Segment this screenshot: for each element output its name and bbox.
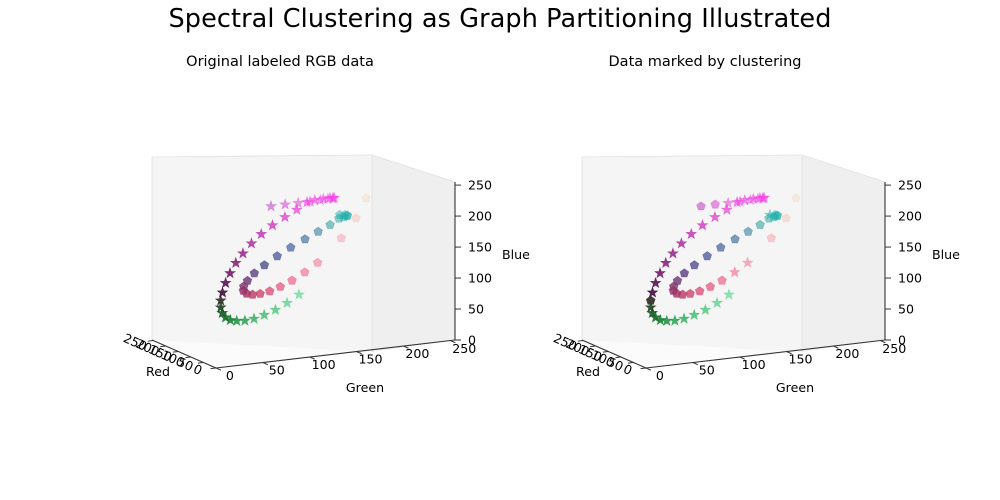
y-tick-label: 50 xyxy=(699,363,715,378)
x-axis-label: Red xyxy=(576,364,600,379)
y-tick-label: 0 xyxy=(656,368,664,383)
z-tick-label: 200 xyxy=(898,209,922,224)
z-tick-label: 150 xyxy=(898,240,922,255)
y-tick-label: 50 xyxy=(269,363,285,378)
y-tick-label: 200 xyxy=(405,346,429,361)
y-tick-label: 100 xyxy=(312,357,336,372)
subplot-clustered[interactable]: 050100150200250Red050100150200250Green05… xyxy=(430,0,930,500)
z-tick-label: 100 xyxy=(898,271,922,286)
y-tick-label: 100 xyxy=(742,357,766,372)
y-tick-label: 150 xyxy=(788,352,812,367)
y-tick-label: 0 xyxy=(226,368,234,383)
y-tick-label: 200 xyxy=(835,346,859,361)
figure-canvas: Spectral Clustering as Graph Partitionin… xyxy=(0,0,1000,500)
y-axis-label: Green xyxy=(346,380,384,395)
y-tick-label: 150 xyxy=(358,352,382,367)
subplot-original-rgb[interactable]: 050100150200250Red050100150200250Green05… xyxy=(0,0,500,500)
z-axis-label: Blue xyxy=(932,247,960,262)
axes3d-original: 050100150200250Red050100150200250Green05… xyxy=(0,0,500,500)
x-axis-label: Red xyxy=(146,364,170,379)
z-tick-label: 0 xyxy=(898,333,906,348)
z-tick-label: 250 xyxy=(898,178,922,193)
y-axis-label: Green xyxy=(776,380,814,395)
z-tick-label: 50 xyxy=(898,302,914,317)
axes3d-clustered: 050100150200250Red050100150200250Green05… xyxy=(430,0,930,500)
